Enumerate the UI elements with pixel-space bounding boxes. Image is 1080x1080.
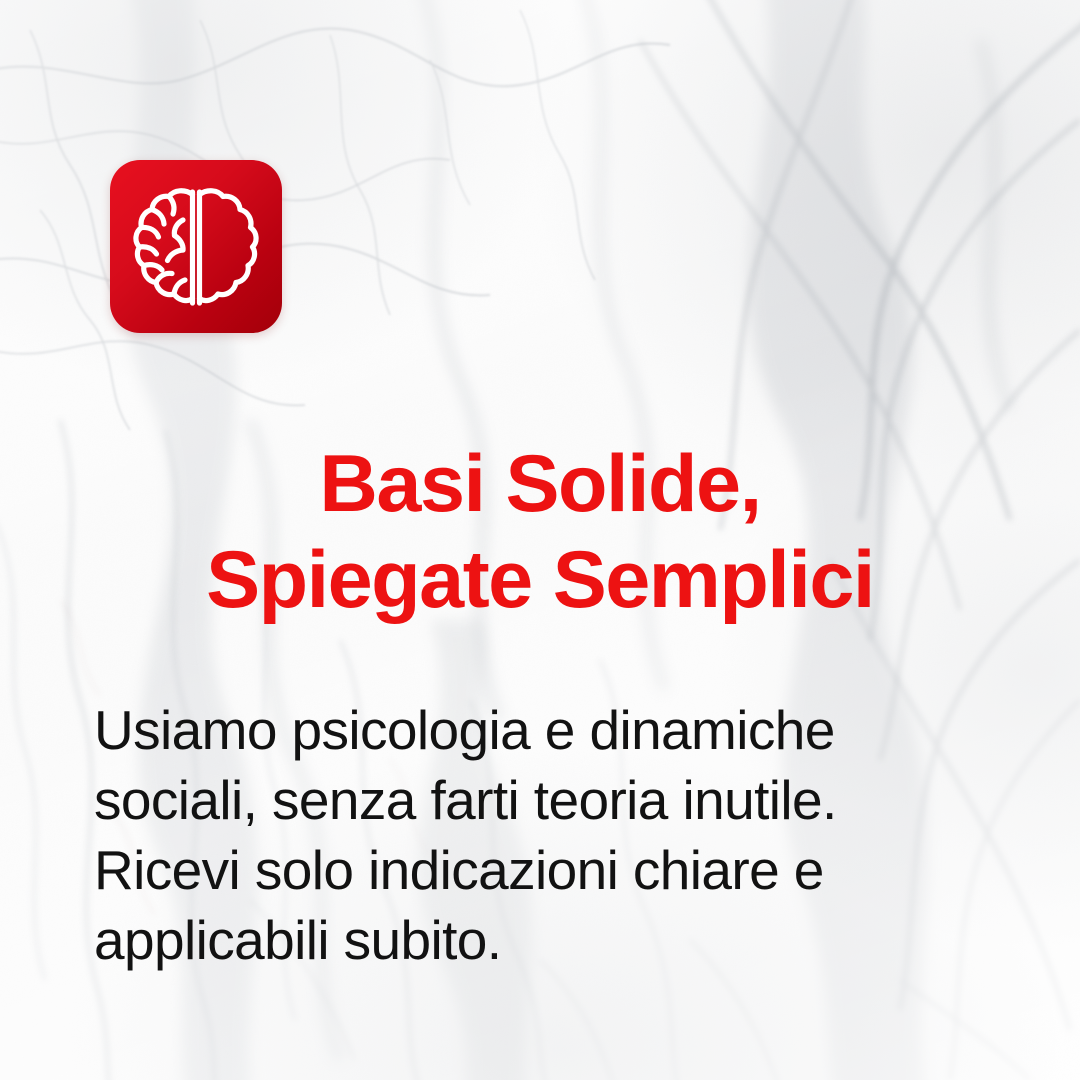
- brand-logo-badge: [110, 160, 282, 333]
- card-content: Basi Solide, Spiegate Semplici Usiamo ps…: [0, 0, 1080, 1080]
- body-paragraph: Usiamo psicologia e dinamiche sociali, s…: [94, 695, 974, 975]
- brain-icon: [133, 186, 259, 308]
- page-title: Basi Solide, Spiegate Semplici: [0, 436, 1080, 628]
- marble-promo-card: Basi Solide, Spiegate Semplici Usiamo ps…: [0, 0, 1080, 1080]
